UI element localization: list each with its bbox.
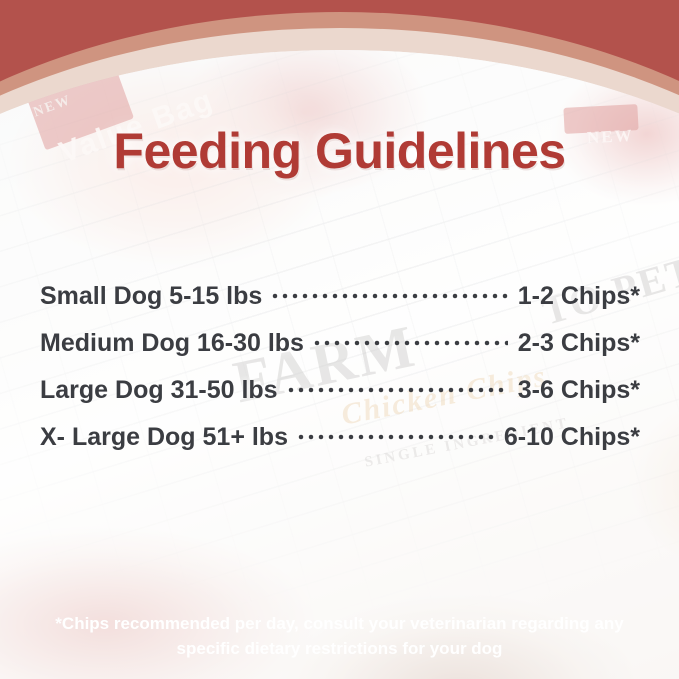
page-title: Feeding Guidelines xyxy=(0,122,679,180)
guideline-label: Medium Dog 16-30 lbs xyxy=(40,329,304,358)
guideline-row: Large Dog 31-50 lbs 3-6 Chips* xyxy=(40,376,640,423)
guideline-label: X- Large Dog 51+ lbs xyxy=(40,423,288,452)
guideline-row: Medium Dog 16-30 lbs 2-3 Chips* xyxy=(40,329,640,376)
guideline-row: X- Large Dog 51+ lbs 6-10 Chips* xyxy=(40,423,640,470)
feeding-guidelines-list: Small Dog 5-15 lbs 1-2 Chips* Medium Dog… xyxy=(40,282,640,470)
guideline-row: Small Dog 5-15 lbs 1-2 Chips* xyxy=(40,282,640,329)
dot-leader xyxy=(314,340,508,346)
guideline-amount: 2-3 Chips* xyxy=(518,329,640,358)
card-content: Feeding Guidelines Small Dog 5-15 lbs 1-… xyxy=(0,0,679,679)
guideline-label: Large Dog 31-50 lbs xyxy=(40,376,278,405)
dot-leader xyxy=(288,387,508,393)
footnote-text: *Chips recommended per day, consult your… xyxy=(0,611,679,661)
dot-leader xyxy=(272,293,507,299)
guideline-amount: 6-10 Chips* xyxy=(504,423,640,452)
dot-leader xyxy=(298,434,494,440)
guideline-label: Small Dog 5-15 lbs xyxy=(40,282,262,311)
feeding-guidelines-card: FARM TO PET Chicken Chips SINGLE INGREDI… xyxy=(0,0,679,679)
guideline-amount: 1-2 Chips* xyxy=(518,282,640,311)
guideline-amount: 3-6 Chips* xyxy=(518,376,640,405)
